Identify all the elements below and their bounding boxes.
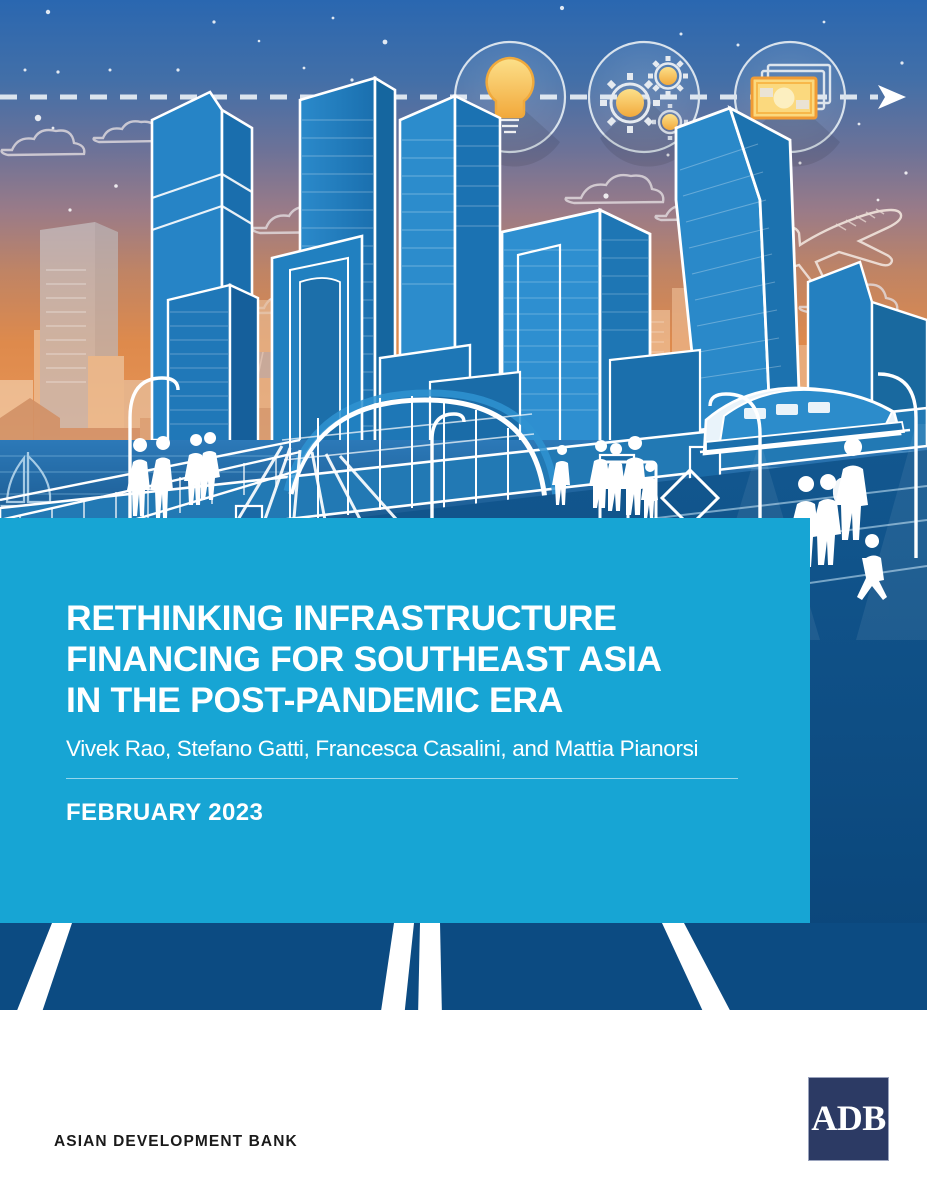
divider-rule: [66, 778, 738, 779]
cover-footer: ASIAN DEVELOPMENT BANK: [0, 1018, 927, 1200]
title-line-3: IN THE POST-PANDEMIC ERA: [66, 680, 762, 721]
title-block: RETHINKING INFRASTRUCTURE FINANCING FOR …: [66, 598, 762, 827]
title-panel: RETHINKING INFRASTRUCTURE FINANCING FOR …: [0, 518, 810, 923]
adb-logo: ADB: [808, 1077, 889, 1161]
adb-logo-text: ADB: [811, 1100, 886, 1138]
title-line-1: RETHINKING INFRASTRUCTURE: [66, 598, 762, 639]
title-line-2: FINANCING FOR SOUTHEAST ASIA: [66, 639, 762, 680]
report-cover: RETHINKING INFRASTRUCTURE FINANCING FOR …: [0, 0, 927, 1200]
publisher-name: ASIAN DEVELOPMENT BANK: [54, 1133, 298, 1151]
authors-line: Vivek Rao, Stefano Gatti, Francesca Casa…: [66, 734, 762, 764]
publication-date: FEBRUARY 2023: [66, 799, 762, 827]
